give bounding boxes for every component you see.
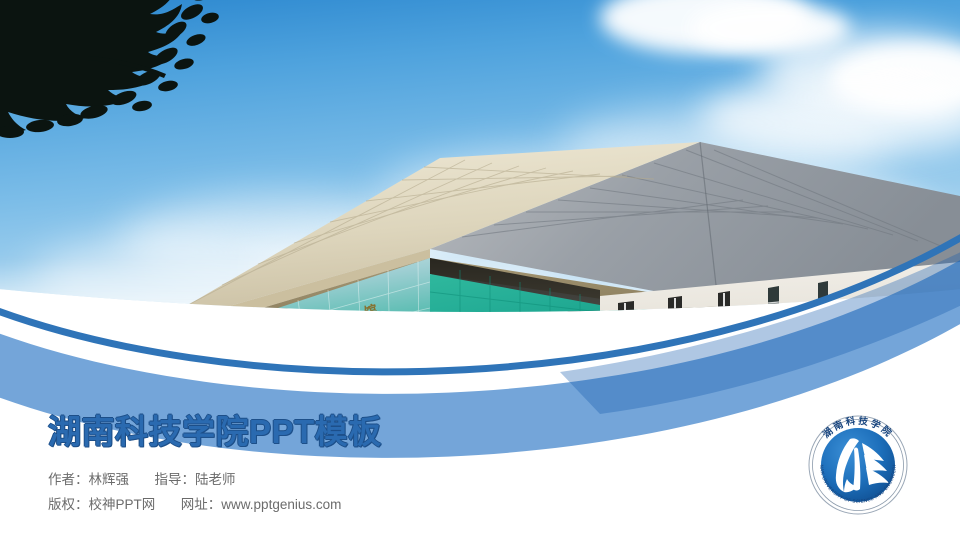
page-title: 湖南科技学院PPT模板 [48,412,668,452]
copyright-line: 版权：校神PPT网 网址：www.pptgenius.com [48,492,668,517]
svg-text:育: 育 [314,315,331,334]
advisor-label: 指导：陆老师 [155,472,236,487]
presentation-slide: 体 育 馆 [0,0,960,540]
author-line: 作者：林辉强 指导：陆老师 [48,467,668,492]
copyright-label: 版权：校神PPT网 [48,497,155,512]
hero-photo: 体 育 馆 [0,0,960,400]
cloud-shape [600,175,940,271]
title-block: 湖南科技学院PPT模板 作者：林辉强 指导：陆老师 版权：校神PPT网 网址：w… [48,412,668,517]
website-label: 网址：www.pptgenius.com [181,497,342,512]
svg-text:体: 体 [266,327,284,346]
author-label: 作者：林辉强 [48,472,129,487]
university-logo: 湖南科技学院 HUNAN UNIVERSITY OF SCIENCE AND E… [806,413,910,517]
horizon-cloud-bank [0,260,960,400]
